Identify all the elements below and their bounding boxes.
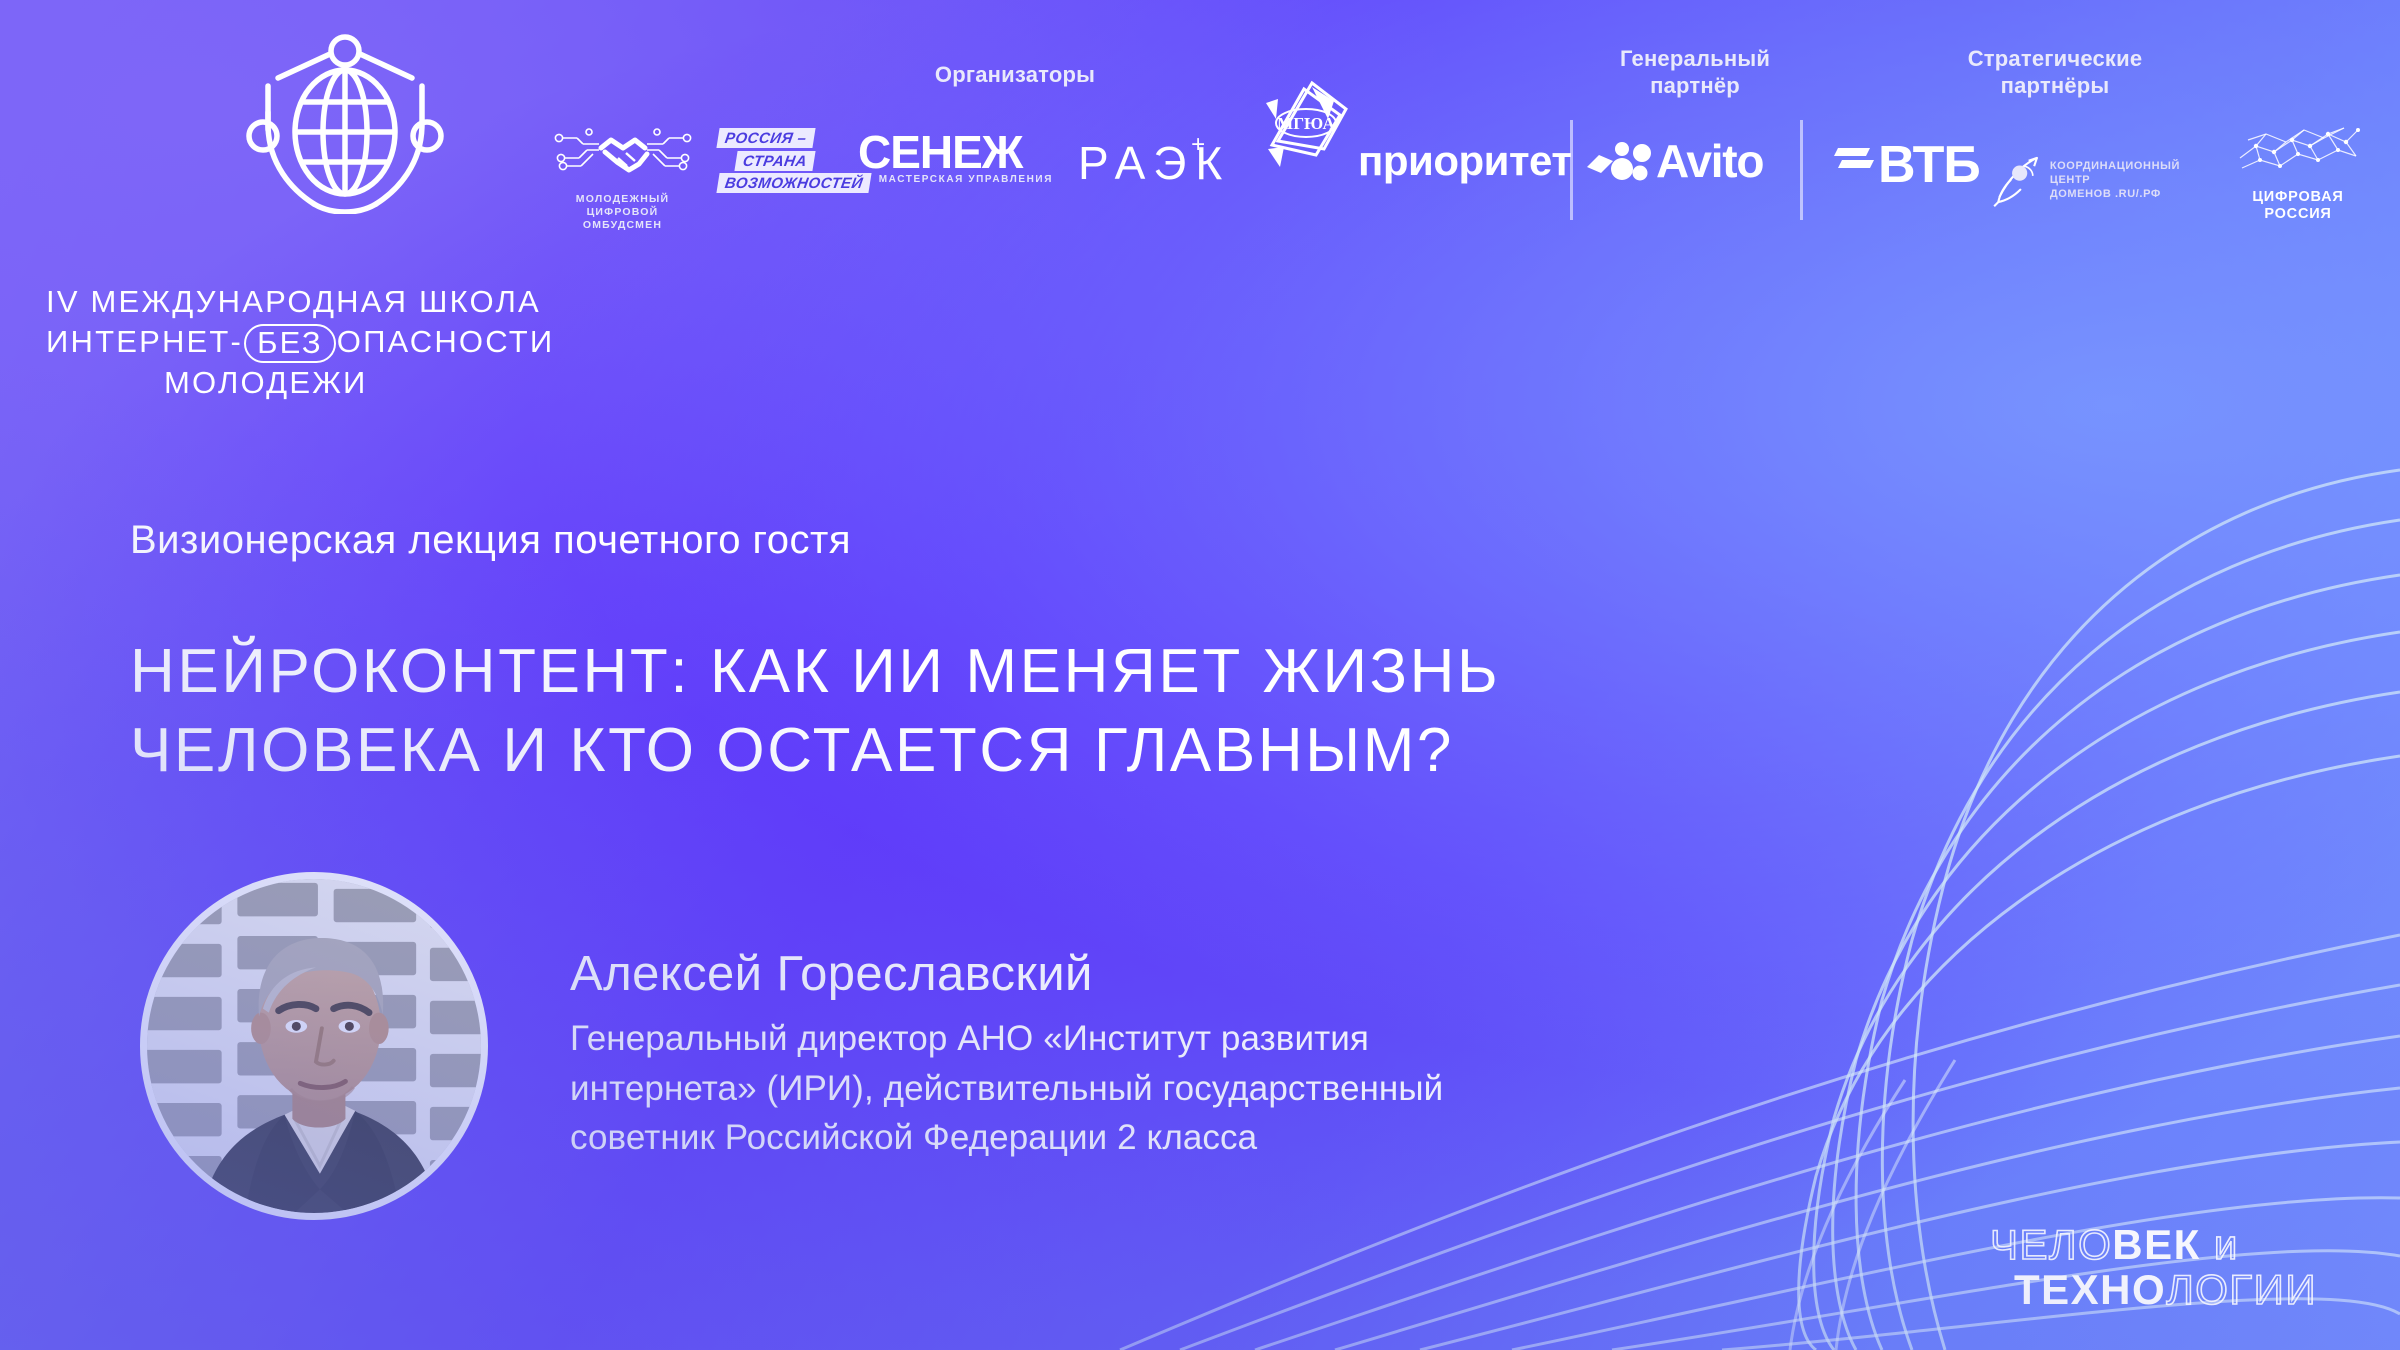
ombudsman-caption-line2: ОМБУДСМЕН bbox=[540, 219, 705, 232]
prioritet-wordmark: приоритет bbox=[1358, 140, 1617, 182]
senezh-wordmark: СЕНЕЖ bbox=[858, 132, 1053, 173]
kcd-caption-line1: КООРДИНАЦИОННЫЙ ЦЕНТР bbox=[2050, 159, 2180, 188]
handshake-circuit-icon bbox=[543, 120, 703, 182]
rsv-line3: ВОЗМОЖНОСТЕЙ bbox=[716, 173, 871, 193]
general-partner-label-line2: партнёр bbox=[1555, 73, 1835, 100]
speaker-name: Алексей Гореславский bbox=[570, 948, 1890, 1002]
general-partner-label-line1: Генеральный bbox=[1555, 46, 1835, 73]
header: IV МЕЖДУНАРОДНАЯ ШКОЛА ИНТЕРНЕТ-БЕЗОПАСН… bbox=[0, 0, 2400, 250]
event-title-pre: ИНТЕРНЕТ- bbox=[46, 324, 243, 359]
avito-dots-icon bbox=[1608, 139, 1656, 183]
logo-vtb: ВТБ bbox=[1832, 134, 1980, 191]
coordination-center-caption: КООРДИНАЦИОННЫЙ ЦЕНТР ДОМЕНОВ .RU/.РФ bbox=[2050, 159, 2180, 202]
ombudsman-caption-line1: МОЛОДЕЖНЫЙ ЦИФРОВОЙ bbox=[540, 193, 705, 219]
avito-wordmark: Avito bbox=[1608, 138, 1763, 184]
lecture-title-line1: НЕЙРОКОНТЕНТ: КАК ИИ МЕНЯЕТ ЖИЗНЬ bbox=[130, 632, 1920, 711]
diamond-emblem-icon: МГЮА bbox=[1250, 75, 1360, 175]
event-title-line2: ИНТЕРНЕТ-БЕЗОПАСНОСТИ bbox=[46, 322, 766, 362]
logo-raek: РАЭК + bbox=[1078, 140, 1231, 186]
event-title-line3: МОЛОДЕЖИ bbox=[46, 363, 766, 403]
logo-coordination-center: КООРДИНАЦИОННЫЙ ЦЕНТР ДОМЕНОВ .RU/.РФ bbox=[1990, 140, 2180, 220]
strategic-partners-label-line2: партнёры bbox=[1900, 73, 2210, 100]
general-partner-label: Генеральный партнёр bbox=[1555, 46, 1835, 100]
svg-text:МГЮА: МГЮА bbox=[1277, 114, 1335, 133]
digital-russia-caption-line2: РОССИЯ bbox=[2228, 206, 2368, 223]
logo-ombudsman-caption: МОЛОДЕЖНЫЙ ЦИФРОВОЙ ОМБУДСМЕН bbox=[540, 193, 705, 232]
speaker-role-line1: Генеральный директор АНО «Институт разви… bbox=[570, 1014, 1890, 1064]
kcd-caption-line2: ДОМЕНОВ .RU/.РФ bbox=[2050, 187, 2180, 201]
raek-wordmark: РАЭК bbox=[1078, 140, 1231, 186]
digital-russia-caption-line1: ЦИФРОВАЯ bbox=[2228, 189, 2368, 206]
event-title-line1: IV МЕЖДУНАРОДНАЯ ШКОЛА bbox=[46, 282, 766, 322]
shield-globe-icon bbox=[232, 32, 458, 214]
vtb-bars-icon bbox=[1832, 134, 1878, 180]
logo-avito: Avito bbox=[1608, 138, 1763, 184]
raek-superscript: + bbox=[1191, 131, 1205, 159]
strategic-partners-label-line1: Стратегические bbox=[1900, 46, 2210, 73]
logo-digital-russia: ЦИФРОВАЯ РОССИЯ bbox=[2228, 120, 2368, 222]
logo-rsv: РОССИЯ – СТРАНА ВОЗМОЖНОСТЕЙ bbox=[718, 128, 863, 196]
divider-before-vtb bbox=[1800, 120, 1803, 220]
footer-logo-chelo: ЧЕЛО bbox=[1990, 1221, 2112, 1268]
logo-mgua: МГЮА bbox=[1250, 75, 1360, 175]
speaker-role-line3: советник Российской Федерации 2 класса bbox=[570, 1113, 1890, 1163]
rocket-icon bbox=[1990, 140, 2044, 220]
footer-logo-i: и bbox=[2201, 1221, 2239, 1268]
vtb-wordmark: ВТБ bbox=[1832, 134, 1980, 191]
footer-logo: ЧЕЛОВЕК и ТЕХНОЛОГИИ bbox=[1990, 1222, 2330, 1313]
rsv-line2: СТРАНА bbox=[734, 151, 815, 171]
senezh-caption: МАСТЕРСКАЯ УПРАВЛЕНИЯ bbox=[858, 174, 1053, 187]
event-title-post: ОПАСНОСТИ bbox=[337, 324, 555, 359]
logo-senezh: СЕНЕЖ МАСТЕРСКАЯ УПРАВЛЕНИЯ bbox=[858, 132, 1053, 187]
slide-canvas: IV МЕЖДУНАРОДНАЯ ШКОЛА ИНТЕРНЕТ-БЕЗОПАСН… bbox=[0, 0, 2400, 1350]
russia-map-icon bbox=[2234, 120, 2362, 182]
avito-text: Avito bbox=[1656, 135, 1763, 187]
prioritet-text: приоритет bbox=[1358, 137, 1571, 184]
speaker-portrait bbox=[147, 879, 481, 1213]
lecture-kicker: Визионерская лекция почетного гостя bbox=[130, 518, 851, 563]
strategic-partners-label: Стратегические партнёры bbox=[1900, 46, 2210, 100]
footer-logo-line1: ЧЕЛОВЕК и bbox=[1990, 1222, 2330, 1267]
footer-logo-logii: ЛОГИИ bbox=[2166, 1266, 2317, 1313]
organizers-label: Организаторы bbox=[855, 62, 1175, 89]
logo-prioritet: приоритет bbox=[1358, 140, 1617, 182]
speaker-role-line2: интернета» (ИРИ), действительный государ… bbox=[570, 1064, 1890, 1114]
lecture-title-line2: ЧЕЛОВЕКА И КТО ОСТАЕТСЯ ГЛАВНЫМ? bbox=[130, 711, 1920, 790]
digital-russia-caption: ЦИФРОВАЯ РОССИЯ bbox=[2228, 189, 2368, 222]
speaker-role: Генеральный директор АНО «Институт разви… bbox=[570, 1014, 1890, 1163]
bez-pill: БЕЗ bbox=[244, 324, 336, 363]
lecture-title: НЕЙРОКОНТЕНТ: КАК ИИ МЕНЯЕТ ЖИЗНЬ ЧЕЛОВЕ… bbox=[130, 632, 1920, 791]
logo-ombudsman: МОЛОДЕЖНЫЙ ЦИФРОВОЙ ОМБУДСМЕН bbox=[540, 120, 705, 232]
footer-logo-line2: ТЕХНОЛОГИИ bbox=[2014, 1267, 2330, 1312]
speaker-info: Алексей Гореславский Генеральный директо… bbox=[570, 948, 1890, 1163]
vtb-text: ВТБ bbox=[1878, 136, 1980, 194]
speaker-avatar bbox=[140, 872, 488, 1220]
event-title: IV МЕЖДУНАРОДНАЯ ШКОЛА ИНТЕРНЕТ-БЕЗОПАСН… bbox=[46, 282, 766, 403]
footer-logo-techno: ТЕХНО bbox=[2014, 1266, 2166, 1313]
rsv-line1: РОССИЯ – bbox=[716, 128, 815, 148]
footer-logo-vek: ВЕК bbox=[2112, 1221, 2200, 1268]
